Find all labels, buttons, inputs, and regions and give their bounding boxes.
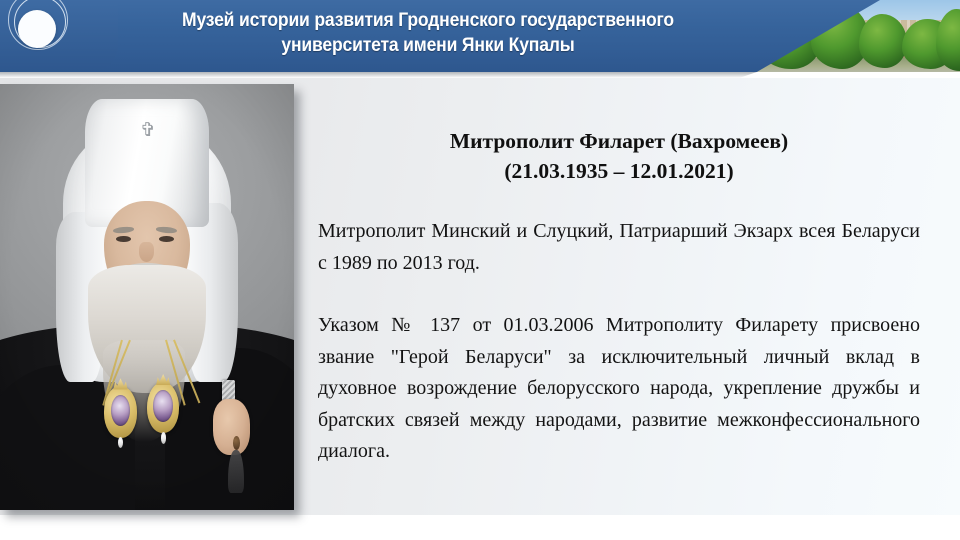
- header-title: Музей истории развития Гродненского госу…: [126, 8, 731, 58]
- tree-icon: [859, 14, 907, 67]
- concentric-circles-icon: [4, 0, 80, 64]
- header-banner: Музей истории развития Гродненского госу…: [0, 0, 960, 78]
- hand: [213, 399, 250, 454]
- content-text-block: Митрополит Филарет (Вахромеев) (21.03.19…: [318, 126, 920, 468]
- panagia-icon: [147, 382, 179, 433]
- slide-root: Музей истории развития Гродненского госу…: [0, 0, 960, 540]
- page-title: Митрополит Филарет (Вахромеев) (21.03.19…: [318, 126, 920, 186]
- banner-shadow: [0, 72, 880, 78]
- staff-tassel: [228, 450, 244, 493]
- paragraph-award: Указом № 137 от 01.03.2006 Митрополиту Ф…: [318, 310, 920, 468]
- bottom-white-strip: [0, 515, 960, 540]
- paragraph-biography: Митрополит Минский и Слуцкий, Патриарший…: [318, 216, 920, 279]
- nose: [139, 242, 154, 262]
- prayer-bead: [233, 436, 240, 450]
- ring-dot: [18, 10, 56, 48]
- panagia-pearl: [161, 432, 166, 443]
- panagia-pearl: [118, 437, 123, 448]
- panagia-image: [111, 395, 130, 427]
- eye-right: [159, 236, 174, 242]
- eye-left: [116, 236, 131, 242]
- portrait-photo: ✞: [0, 84, 294, 510]
- cross-icon: ✞: [140, 121, 152, 141]
- panagia-image: [153, 390, 172, 422]
- panagia-icon: [104, 386, 136, 437]
